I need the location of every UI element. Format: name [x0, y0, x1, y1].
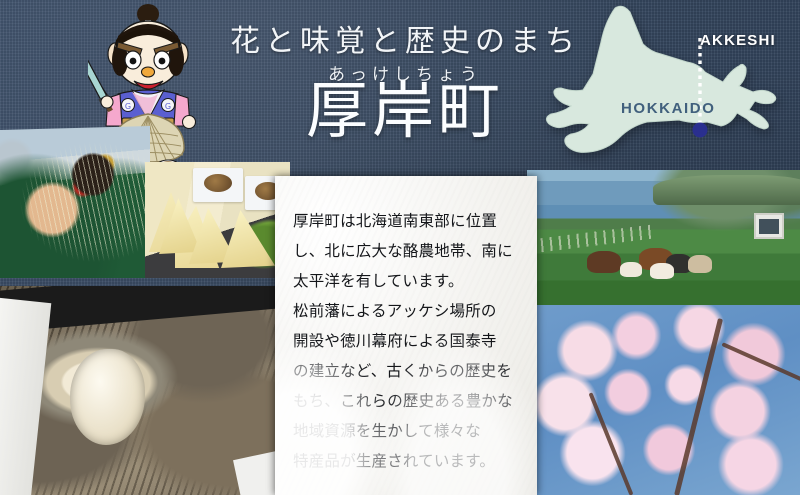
- pasture-signboard: [754, 213, 784, 239]
- coastal-cliff: [653, 175, 800, 205]
- horse: [688, 255, 712, 273]
- photo-cherry-blossoms: [527, 305, 800, 495]
- svg-text:G: G: [125, 102, 131, 111]
- hokkaido-map: [527, 0, 800, 172]
- cheese-package: [193, 168, 243, 202]
- photo-lion-dance-festival: [0, 126, 150, 278]
- description-text: 厚岸町は北海道南東部に位置 し、北に広大な酪農地帯、南に 太平洋を有しています。…: [293, 206, 523, 476]
- poster-root: 花と味覚と歴史のまち あっけしちょう 厚岸町: [0, 0, 800, 495]
- horse: [650, 263, 674, 279]
- map-label-hokkaido: HOKKAIDO: [621, 100, 715, 117]
- photo-cheese-platter: [145, 162, 290, 278]
- svg-text:G: G: [165, 102, 171, 111]
- description-panel: 厚岸町は北海道南東部に位置 し、北に広大な酪農地帯、南に 太平洋を有しています。…: [275, 176, 537, 495]
- map-marker-akkeshi: [693, 123, 708, 138]
- horse: [620, 262, 642, 277]
- photo-oysters: [0, 286, 290, 495]
- photo-pasture-horses: [527, 170, 800, 305]
- map-label-akkeshi: AKKESHI: [700, 32, 776, 49]
- horse: [587, 251, 621, 273]
